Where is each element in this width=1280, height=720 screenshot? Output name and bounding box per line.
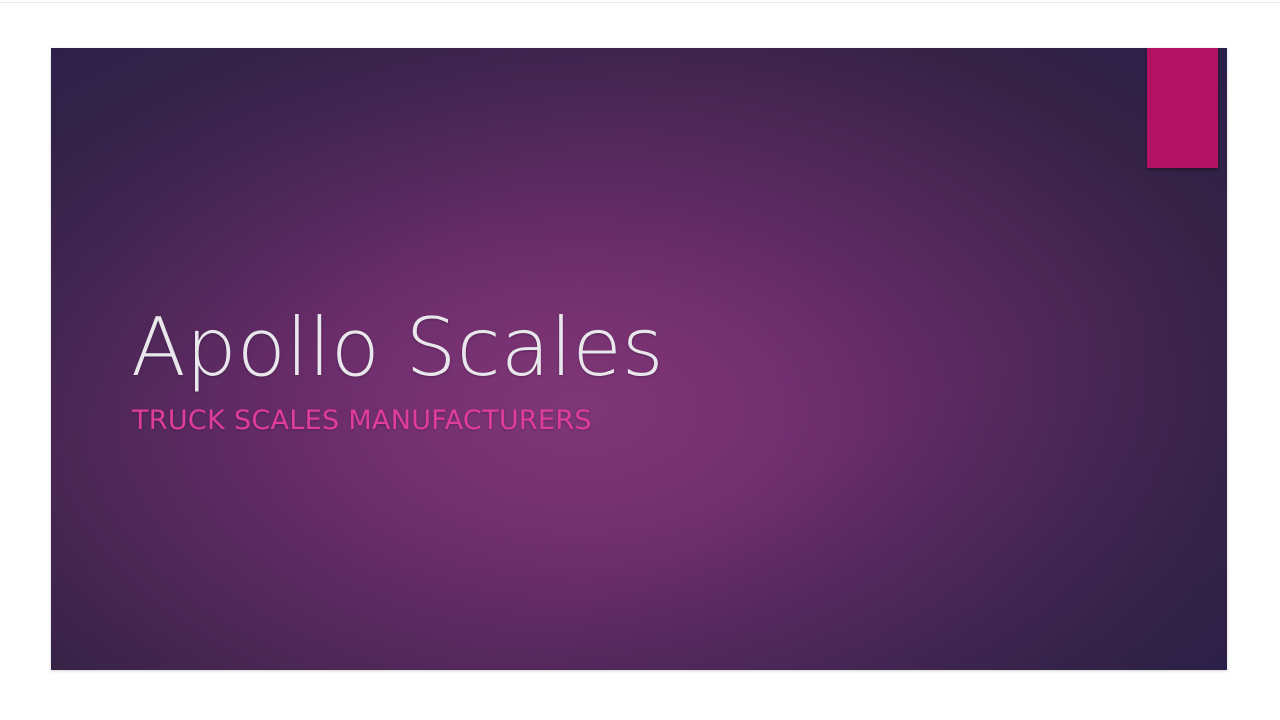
page-top-hairline: [0, 2, 1280, 3]
accent-tab-shape[interactable]: [1147, 48, 1218, 168]
page-subtitle: TRUCK SCALES MANUFACTURERS: [132, 404, 1031, 438]
page-title: Apollo Scales: [131, 300, 1031, 396]
title-slide[interactable]: Apollo Scales TRUCK SCALES MANUFACTURERS: [51, 48, 1227, 670]
title-text-block[interactable]: Apollo Scales TRUCK SCALES MANUFACTURERS: [131, 300, 1031, 438]
